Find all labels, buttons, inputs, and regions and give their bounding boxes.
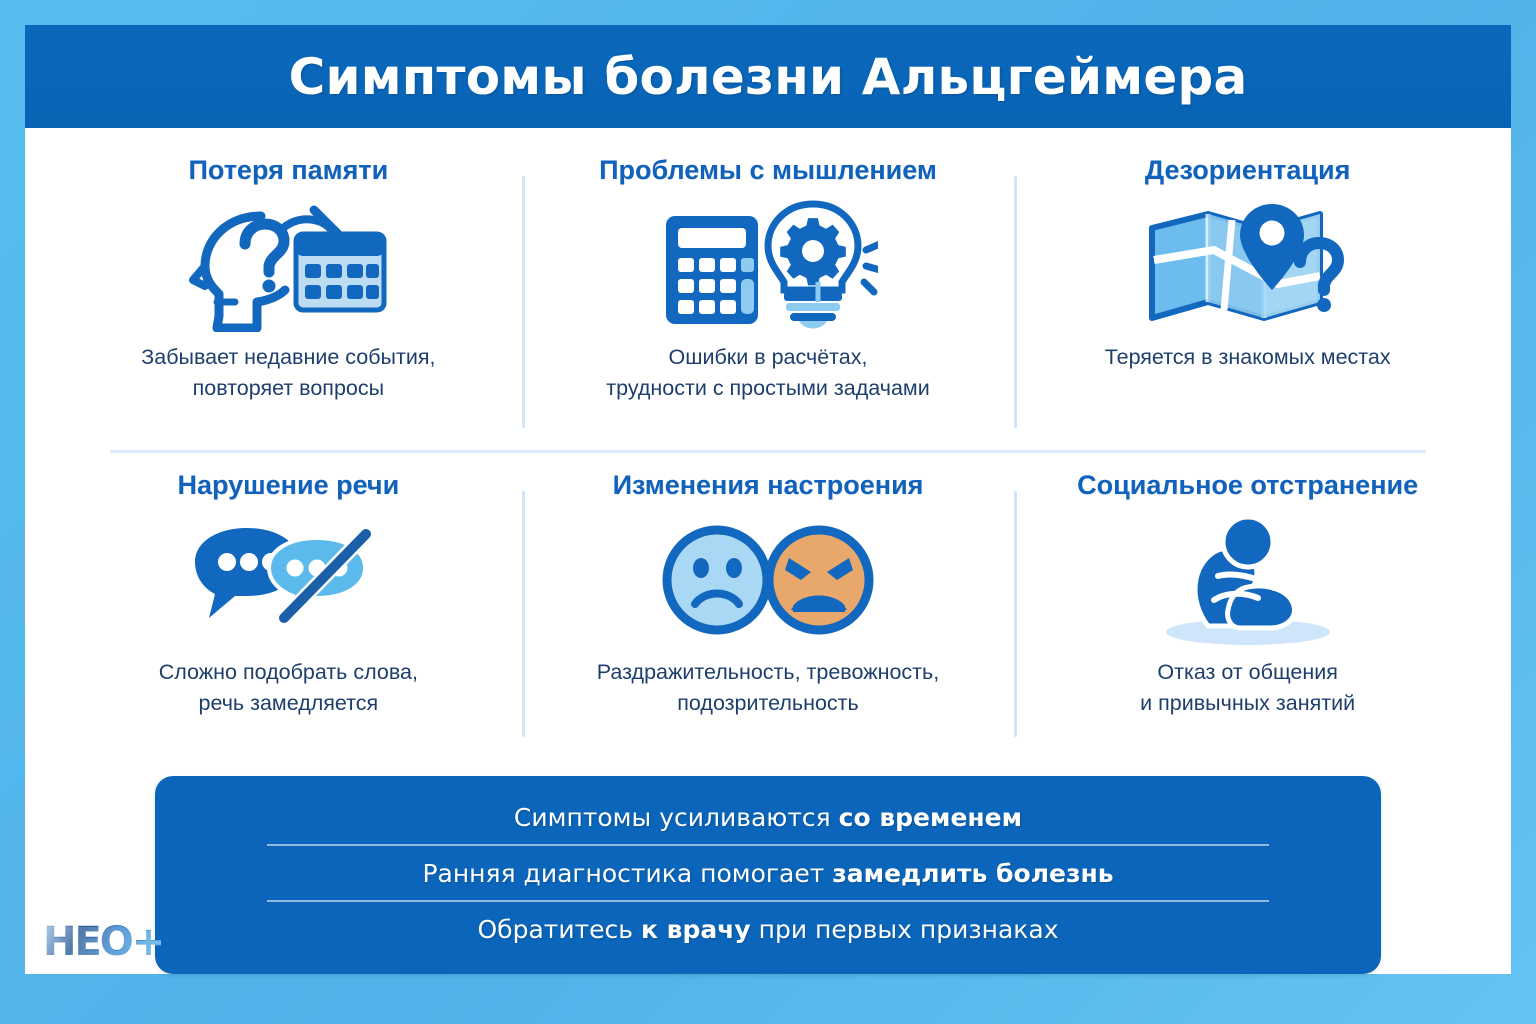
key-message-3-tail: при первых признаках [751,915,1059,944]
card-description-line2: речь замедляется [159,688,418,719]
key-message-2-bold: замедлить болезнь [832,859,1113,888]
card-title: Потеря памяти [188,156,388,186]
card-description-line1: Ошибки в расчётах, [606,342,929,373]
footer-panel-wrap: Симптомы усиливаются со временем Ранняя … [25,776,1511,974]
card-description: Ошибки в расчётах, трудности с простыми … [606,342,929,404]
head-question-calendar-icon [183,196,393,334]
key-message-3: Обратитесь к врачу при первых признаках [155,902,1381,956]
card-description-line1: Раздражительность, тревожность, [597,657,939,688]
card-description-line2: подозрительность [597,688,939,719]
card-title: Дезориентация [1145,156,1350,186]
card-description-line1: Отказ от общения [1140,657,1355,688]
vertical-divider [1014,491,1017,737]
card-description: Теряется в знакомых местах [1105,342,1391,373]
card-description: Раздражительность, тревожность, подозрит… [597,657,939,719]
sad-angry-faces-icon [661,511,875,649]
card-speech-impairment[interactable]: Нарушение речи [55,465,522,751]
symptoms-grid: Потеря памяти [25,128,1511,776]
brand-logo: НЕО+ [43,922,163,962]
card-social-withdrawal[interactable]: Социальное отстранение [1014,465,1481,751]
page-title: Симптомы болезни Альцгеймера [289,48,1248,106]
card-description-line2: повторяет вопросы [141,373,435,404]
person-sitting-alone-icon [1148,511,1348,649]
header-bar: Симптомы болезни Альцгеймера [25,25,1511,128]
card-description: Отказ от общения и привычных занятий [1140,657,1355,719]
card-description-line1: Теряется в знакомых местах [1105,342,1391,373]
card-description-line2: трудности с простыми задачами [606,373,929,404]
speech-bubbles-slash-icon [183,511,393,649]
symptom-row-2: Нарушение речи [55,465,1481,751]
calculator-lightbulb-gear-icon [658,196,878,334]
card-description-line1: Забывает недавние события, [141,342,435,373]
key-message-3-bold: к врачу [641,915,751,944]
vertical-divider [522,491,525,737]
key-message-2-normal: Ранняя диагностика помогает [422,859,832,888]
card-title: Изменения настроения [613,471,924,501]
poster-page: Симптомы болезни Альцгеймера Потеря памя… [25,25,1511,974]
card-title: Нарушение речи [177,471,399,501]
key-message-1-bold: со временем [839,803,1022,832]
card-memory-loss[interactable]: Потеря памяти [55,150,522,442]
key-message-3-normal: Обратитесь [478,915,641,944]
vertical-divider [1014,176,1017,428]
vertical-divider [522,176,525,428]
card-thinking-problems[interactable]: Проблемы с мышлением [522,150,1015,442]
card-title: Проблемы с мышлением [599,156,937,186]
card-description-line2: и привычных занятий [1140,688,1355,719]
card-disorientation[interactable]: Дезориентация [1014,150,1481,442]
symptom-row-1: Потеря памяти [55,150,1481,442]
card-description: Сложно подобрать слова, речь замедляется [159,657,418,719]
key-messages-panel: Симптомы усиливаются со временем Ранняя … [155,776,1381,974]
key-message-1: Симптомы усиливаются со временем [155,790,1381,844]
row-divider [110,450,1426,453]
key-message-2: Ранняя диагностика помогает замедлить бо… [155,846,1381,900]
card-description: Забывает недавние события, повторяет воп… [141,342,435,404]
map-pin-question-icon [1140,196,1355,334]
key-message-1-normal: Симптомы усиливаются [514,803,839,832]
card-title: Социальное отстранение [1077,471,1418,501]
card-description-line1: Сложно подобрать слова, [159,657,418,688]
card-mood-changes[interactable]: Изменения настроения [522,465,1015,751]
